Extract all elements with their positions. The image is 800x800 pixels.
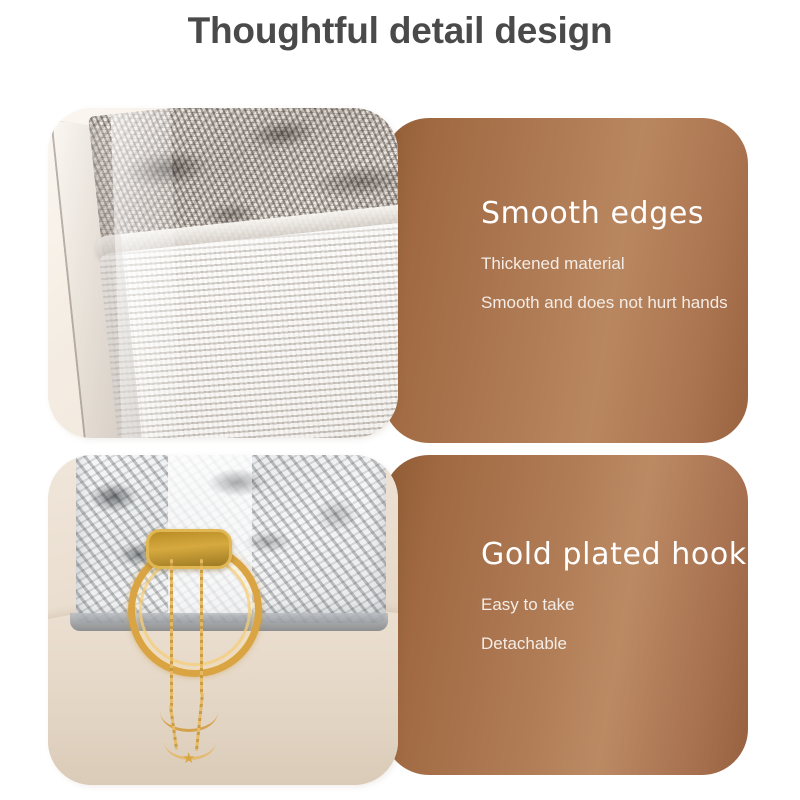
clear-box-illustration [88,108,398,438]
feature-heading: Gold plated hook [481,537,731,572]
panel-text-group: Smooth edges Thickened material Smooth a… [481,196,731,333]
feature-line-1: Thickened material [481,255,731,272]
product-photo-gold-hook: ★ [48,455,398,785]
info-panel: Smooth edges Thickened material Smooth a… [383,118,748,443]
necklace-chain [200,559,203,695]
info-panel: Gold plated hook Easy to take Detachable [383,455,748,775]
gold-hook-plate [146,529,232,569]
box-gloss-highlight [111,108,183,438]
page-title: Thoughtful detail design [0,10,800,52]
panel-text-group: Gold plated hook Easy to take Detachable [481,537,731,674]
product-photo-smooth-edges [48,108,398,438]
feature-heading: Smooth edges [481,196,731,231]
feature-line-2: Detachable [481,635,731,652]
necklace-chain [170,559,173,709]
feature-line-2: Smooth and does not hurt hands [481,294,731,311]
feature-line-1: Easy to take [481,596,731,613]
star-charm-icon: ★ [182,751,195,766]
